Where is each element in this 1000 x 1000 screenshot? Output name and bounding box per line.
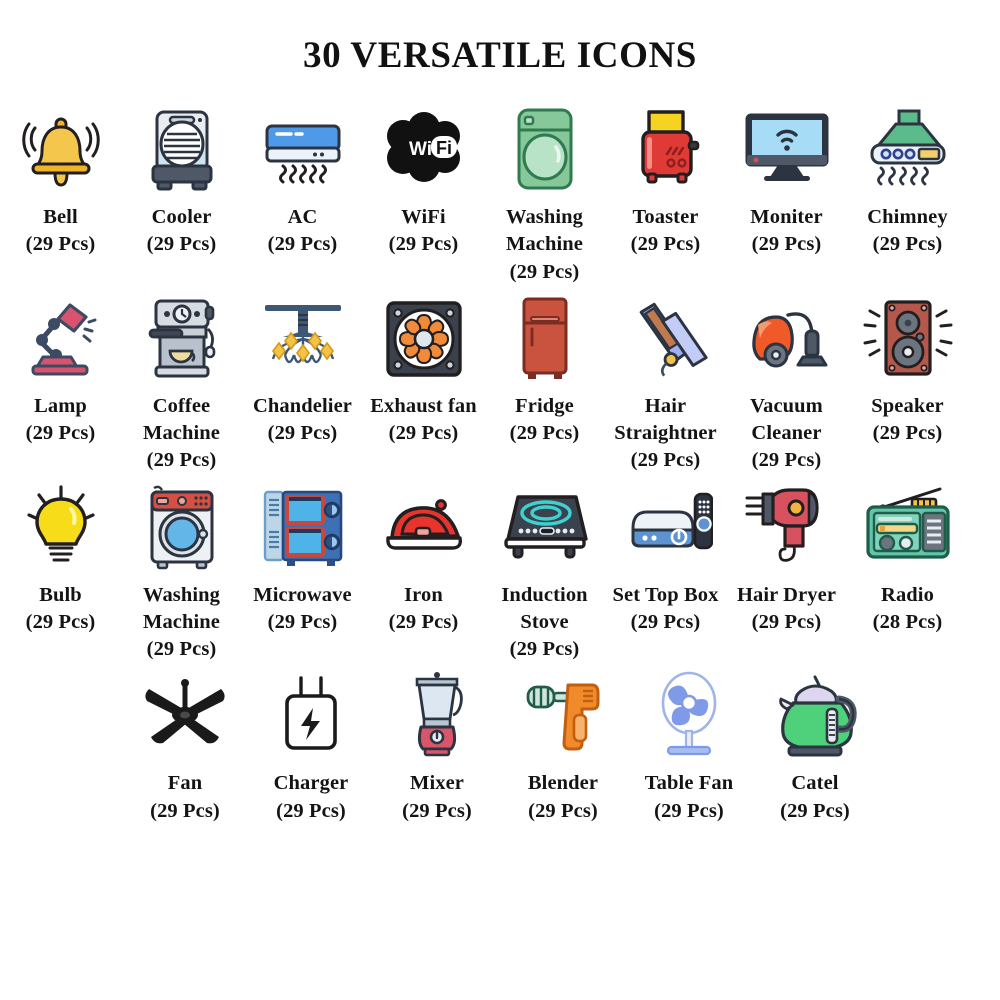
icon-cell-mixer[interactable]: Mixer (29 Pcs) (374, 669, 500, 825)
icon-label: Radio (28 Pcs) (873, 582, 943, 637)
icon-label: Charger (29 Pcs) (274, 770, 349, 825)
vacuum-cleaner-icon (726, 292, 847, 384)
desk-lamp-icon (0, 292, 121, 384)
set-top-box-icon (605, 481, 726, 573)
icon-label: Washing Machine (29 Pcs) (484, 204, 605, 286)
icon-cell-monitor[interactable]: Moniter (29 Pcs) (726, 103, 847, 259)
icon-cell-fan[interactable]: Fan (29 Pcs) (122, 669, 248, 825)
icon-label: Bulb (29 Pcs) (26, 582, 96, 637)
speaker-icon (847, 292, 968, 384)
blender-icon (500, 669, 626, 761)
icon-label: Mixer (29 Pcs) (402, 770, 472, 825)
icon-cell-exhaust-fan[interactable]: Exhaust fan (29 Pcs) (363, 292, 484, 448)
icon-label: WiFi (29 Pcs) (389, 204, 459, 259)
icon-set-page: 30 VERSATILE ICONS Bell (29 Pcs) (0, 0, 1000, 1000)
icon-cell-washing-machine[interactable]: Washing Machine (29 Pcs) (484, 103, 605, 286)
bell-icon (0, 103, 121, 195)
icon-row-2: Lamp (29 Pcs) (0, 292, 1000, 475)
microwave-icon (242, 481, 363, 573)
icon-cell-induction-stove[interactable]: Induction Stove (29 Pcs) (484, 481, 605, 664)
cooler-icon (121, 103, 242, 195)
icon-label: Hair Straightner (29 Pcs) (605, 393, 726, 475)
hair-dryer-icon (726, 481, 847, 573)
icon-cell-fridge[interactable]: Fridge (29 Pcs) (484, 292, 605, 448)
icon-label: Toaster (29 Pcs) (631, 204, 701, 259)
toaster-icon (605, 103, 726, 195)
icon-cell-kettle[interactable]: Catel (29 Pcs) (752, 669, 878, 825)
icon-label: Fridge (29 Pcs) (510, 393, 580, 448)
hair-straightener-icon (605, 292, 726, 384)
icon-cell-cooler[interactable]: Cooler (29 Pcs) (121, 103, 242, 259)
icon-cell-bulb[interactable]: Bulb (29 Pcs) (0, 481, 121, 637)
icon-label: Vacuum Cleaner (29 Pcs) (726, 393, 847, 475)
icon-cell-ac[interactable]: AC (29 Pcs) (242, 103, 363, 259)
kettle-icon (752, 669, 878, 761)
icon-label: Lamp (29 Pcs) (26, 393, 96, 448)
icon-cell-blender[interactable]: Blender (29 Pcs) (500, 669, 626, 825)
icon-cell-iron[interactable]: Iron (29 Pcs) (363, 481, 484, 637)
washing-machine-icon (484, 103, 605, 195)
icon-cell-hair-straightener[interactable]: Hair Straightner (29 Pcs) (605, 292, 726, 475)
chandelier-icon (242, 292, 363, 384)
chimney-icon (847, 103, 968, 195)
bulb-icon (0, 481, 121, 573)
icon-cell-coffee-machine[interactable]: Coffee Machine (29 Pcs) (121, 292, 242, 475)
page-title: 30 VERSATILE ICONS (0, 0, 1000, 77)
icon-label: Moniter (29 Pcs) (750, 204, 822, 259)
icon-label: Catel (29 Pcs) (780, 770, 850, 825)
icon-cell-set-top-box[interactable]: Set Top Box (29 Pcs) (605, 481, 726, 637)
radio-icon (847, 481, 968, 573)
icon-label: AC (29 Pcs) (268, 204, 338, 259)
icon-label: Speaker (29 Pcs) (871, 393, 943, 448)
mixer-icon (374, 669, 500, 761)
charger-icon (248, 669, 374, 761)
ceiling-fan-icon (122, 669, 248, 761)
icon-cell-speaker[interactable]: Speaker (29 Pcs) (847, 292, 968, 448)
exhaust-fan-icon (363, 292, 484, 384)
icon-cell-chimney[interactable]: Chimney (29 Pcs) (847, 103, 968, 259)
icon-cell-hair-dryer[interactable]: Hair Dryer (29 Pcs) (726, 481, 847, 637)
icon-cell-bell[interactable]: Bell (29 Pcs) (0, 103, 121, 259)
icon-row-1: Bell (29 Pcs) (0, 103, 1000, 286)
icon-label: Chandelier (29 Pcs) (253, 393, 352, 448)
icon-cell-wifi[interactable]: Wi Fi WiFi (29 Pcs) (363, 103, 484, 259)
icon-cell-washing-machine-front[interactable]: Washing Machine (29 Pcs) (121, 481, 242, 664)
icon-cell-lamp[interactable]: Lamp (29 Pcs) (0, 292, 121, 448)
icon-label: Set Top Box (29 Pcs) (613, 582, 719, 637)
icon-label: Fan (29 Pcs) (150, 770, 220, 825)
induction-stove-icon (484, 481, 605, 573)
coffee-machine-icon (121, 292, 242, 384)
icon-label: Cooler (29 Pcs) (147, 204, 217, 259)
icon-cell-microwave[interactable]: Microwave (29 Pcs) (242, 481, 363, 637)
icon-row-3: Bulb (29 Pcs) (0, 481, 1000, 664)
ac-icon (242, 103, 363, 195)
icon-cell-charger[interactable]: Charger (29 Pcs) (248, 669, 374, 825)
icon-cell-table-fan[interactable]: Table Fan (29 Pcs) (626, 669, 752, 825)
icon-cell-vacuum-cleaner[interactable]: Vacuum Cleaner (29 Pcs) (726, 292, 847, 475)
table-fan-icon (626, 669, 752, 761)
icon-label: Induction Stove (29 Pcs) (484, 582, 605, 664)
icon-row-4: Fan (29 Pcs) Charger (29 Pcs) (0, 669, 1000, 825)
monitor-icon (726, 103, 847, 195)
fridge-icon (484, 292, 605, 384)
svg-text:Wi: Wi (409, 139, 432, 160)
icon-label: Table Fan (29 Pcs) (645, 770, 733, 825)
svg-text:Fi: Fi (436, 138, 452, 158)
iron-icon (363, 481, 484, 573)
wifi-icon: Wi Fi (363, 103, 484, 195)
washing-machine-front-icon (121, 481, 242, 573)
icon-label: Hair Dryer (29 Pcs) (737, 582, 836, 637)
icon-label: Coffee Machine (29 Pcs) (121, 393, 242, 475)
icon-cell-toaster[interactable]: Toaster (29 Pcs) (605, 103, 726, 259)
icon-label: Blender (29 Pcs) (528, 770, 598, 825)
icon-label: Chimney (29 Pcs) (867, 204, 947, 259)
icon-label: Bell (29 Pcs) (26, 204, 96, 259)
icon-cell-chandelier[interactable]: Chandelier (29 Pcs) (242, 292, 363, 448)
icon-label: Washing Machine (29 Pcs) (121, 582, 242, 664)
icon-label: Exhaust fan (29 Pcs) (370, 393, 476, 448)
icon-label: Iron (29 Pcs) (389, 582, 459, 637)
icon-cell-radio[interactable]: Radio (28 Pcs) (847, 481, 968, 637)
icon-label: Microwave (29 Pcs) (253, 582, 351, 637)
